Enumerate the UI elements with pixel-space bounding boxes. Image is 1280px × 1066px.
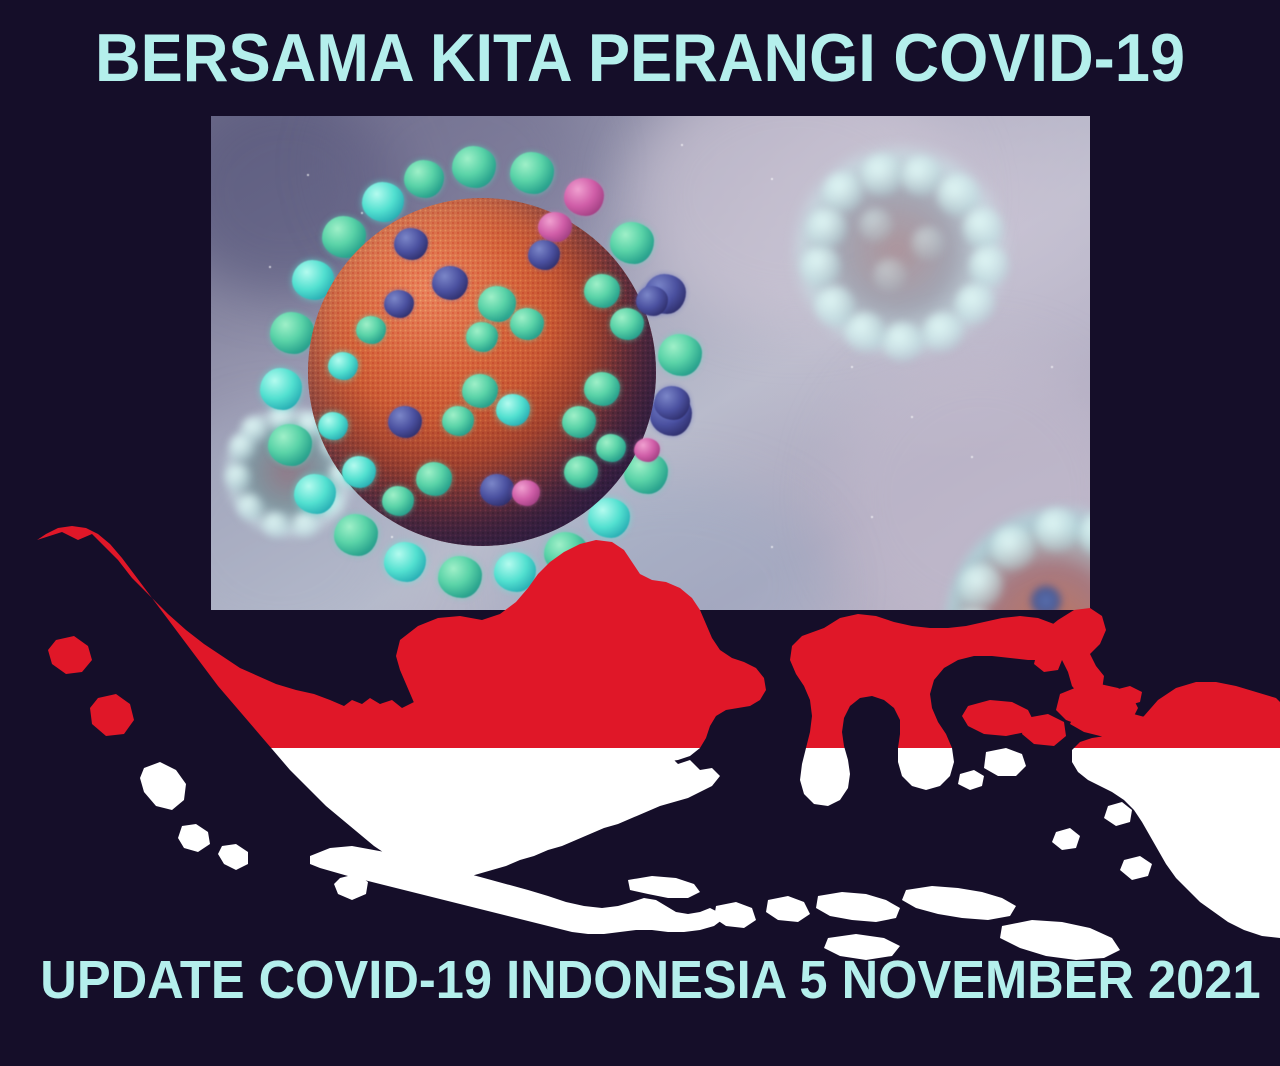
main-virion <box>266 156 696 586</box>
update-caption: UPDATE COVID-19 INDONESIA 5 NOVEMBER 202… <box>40 953 1239 1007</box>
virus-photo <box>211 116 1090 610</box>
covid-update-poster: BERSAMA KITA PERANGI COVID-19 <box>0 0 1280 1066</box>
page-title: BERSAMA KITA PERANGI COVID-19 <box>45 24 1235 92</box>
flag-band-white <box>0 748 1280 1066</box>
